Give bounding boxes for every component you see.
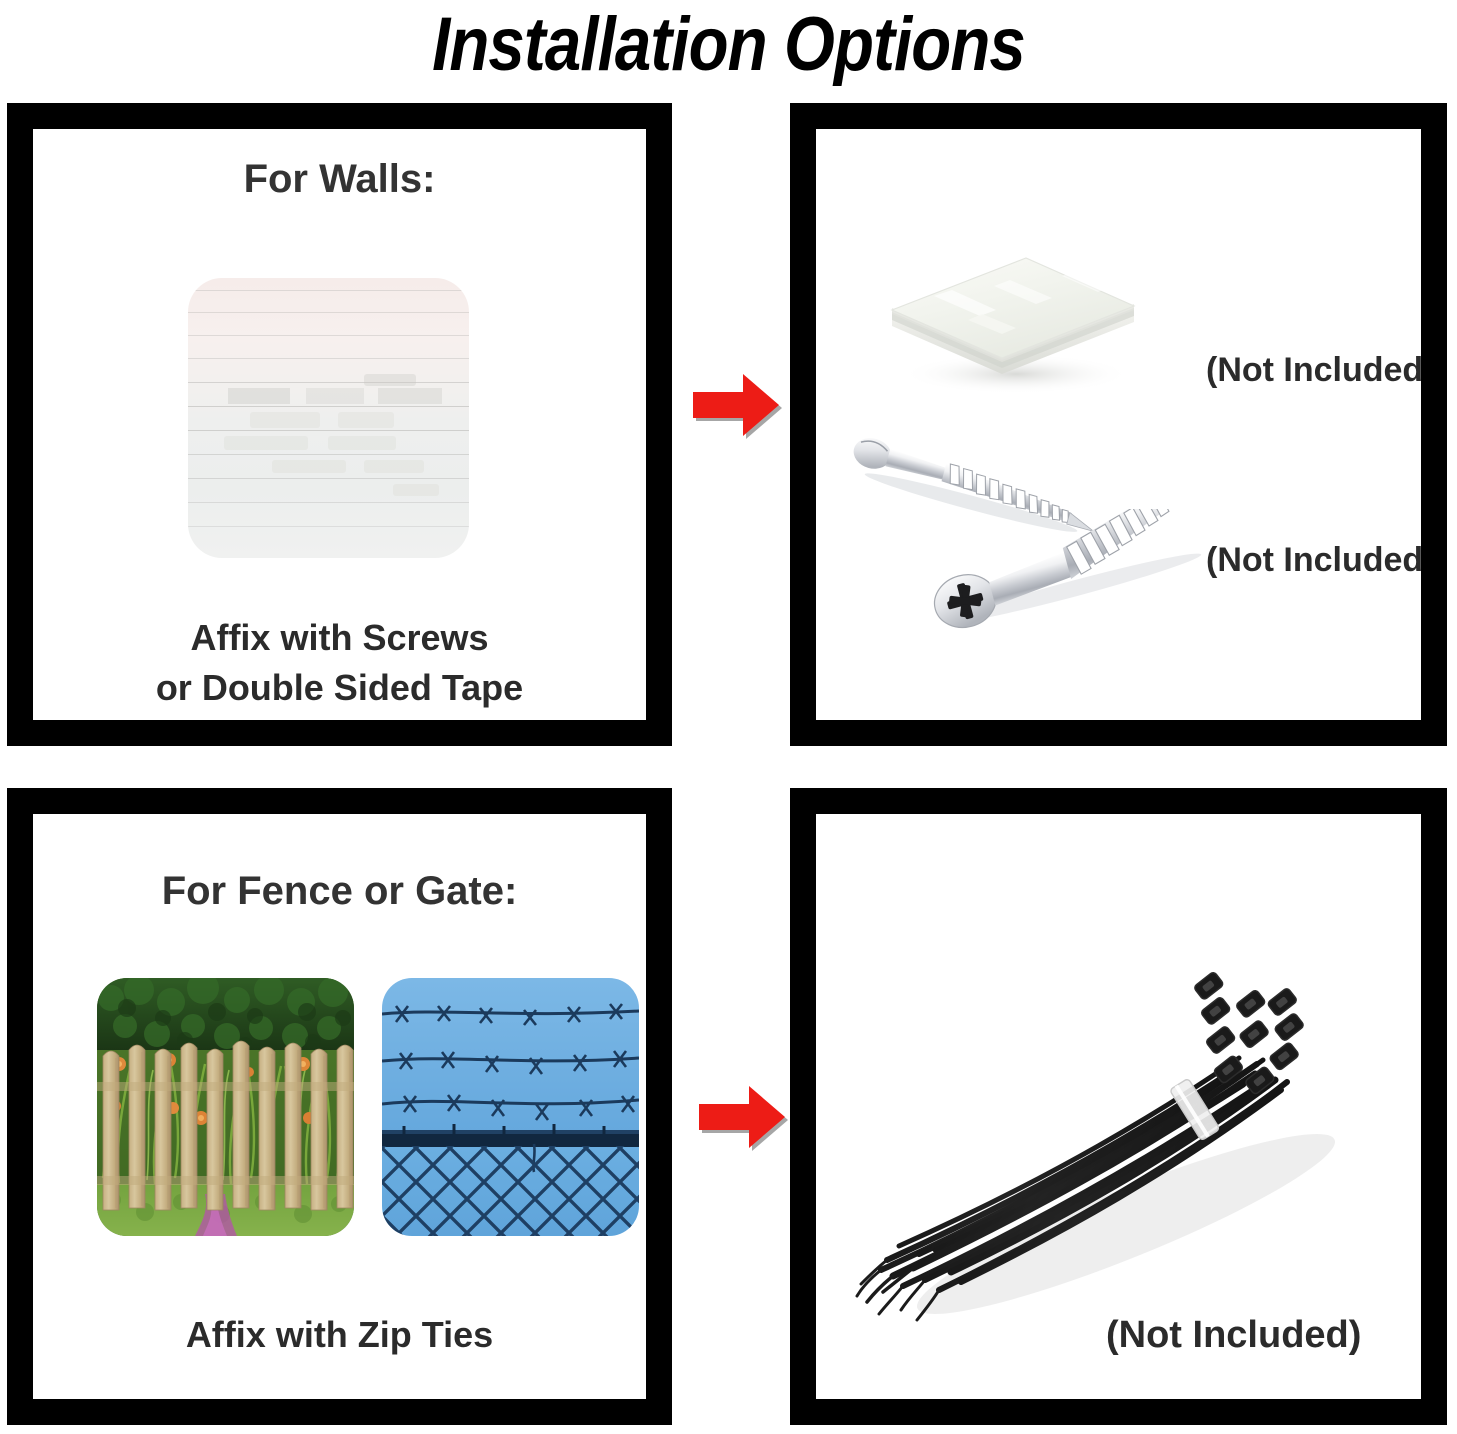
not-included-label-screws: (Not Included) [1206, 541, 1421, 580]
zip-ties-bundle-image [851, 924, 1391, 1344]
panel-caption-walls-line2: or Double Sided Tape [33, 667, 646, 709]
panel-wall-hardware-content: (Not Included) [816, 129, 1421, 720]
red-right-arrow-icon-bottom [693, 1080, 789, 1154]
panel-caption-fence-line1: Affix with Zip Ties [33, 1314, 646, 1356]
wood-screw-image-bottom [926, 509, 1226, 639]
panel-for-walls: For Walls: Affix with Scr [7, 103, 672, 746]
panel-for-walls-content: For Walls: Affix with Scr [33, 129, 646, 720]
double-sided-tape-stack-image [876, 234, 1146, 394]
red-right-arrow-icon-top [687, 368, 783, 442]
not-included-label-tape: (Not Included) [1206, 351, 1421, 390]
panel-zip-ties-content: (Not Included) [816, 814, 1421, 1399]
panel-for-fence-or-gate-content: For Fence or Gate: [33, 814, 646, 1399]
panel-caption-walls-line1: Affix with Screws [33, 617, 646, 659]
panel-for-fence-or-gate: For Fence or Gate: [7, 788, 672, 1425]
not-included-label-zip-ties: (Not Included) [1106, 1314, 1361, 1357]
chain-link-fence-image [382, 978, 639, 1236]
panel-zip-ties: (Not Included) [790, 788, 1447, 1425]
panel-wall-hardware: (Not Included) [790, 103, 1447, 746]
panel-heading-walls: For Walls: [33, 157, 646, 202]
panel-heading-fence: For Fence or Gate: [33, 869, 646, 914]
page-title: Installation Options [102, 2, 1355, 88]
picket-fence-image [97, 978, 354, 1236]
white-brick-wall-image [188, 278, 469, 558]
